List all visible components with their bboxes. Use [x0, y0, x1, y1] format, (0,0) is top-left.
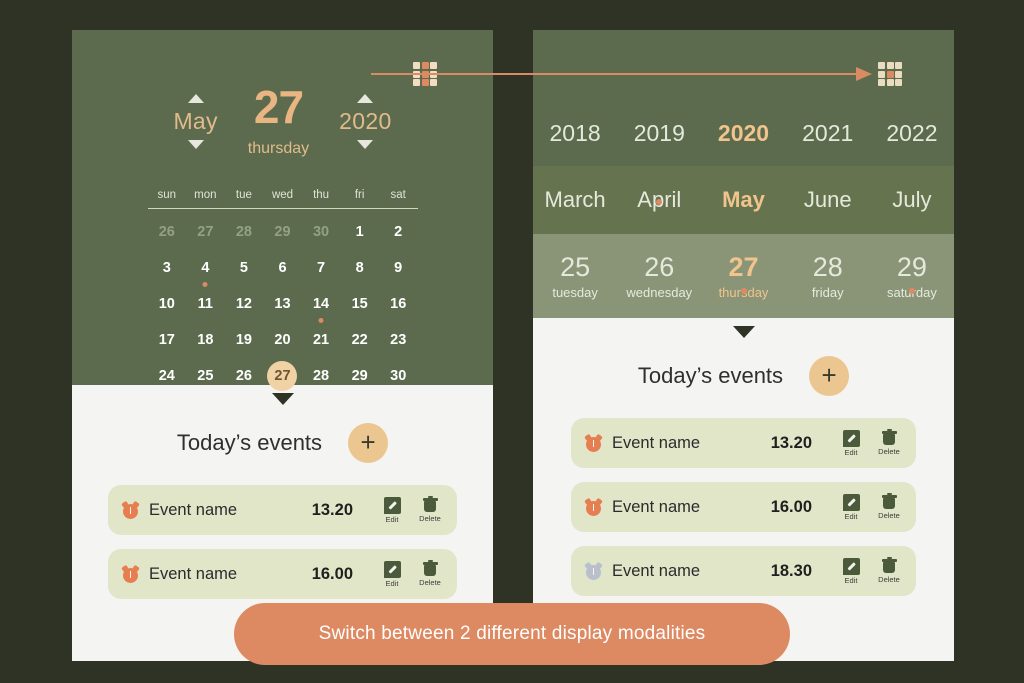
- day-number: 27: [274, 368, 290, 384]
- year-option[interactable]: 2019: [617, 120, 701, 147]
- edit-event-button[interactable]: Edit: [379, 497, 405, 524]
- calendar-day-cell[interactable]: 22: [340, 329, 379, 351]
- pencil-icon: [384, 497, 401, 514]
- caret-up-icon[interactable]: [357, 94, 373, 103]
- day-number: 20: [274, 332, 290, 348]
- calendar-day-cell[interactable]: 20: [263, 329, 302, 351]
- day-number: 7: [317, 260, 325, 276]
- calendar-day-cell[interactable]: 30: [302, 221, 341, 243]
- caption-text: Switch between 2 different display modal…: [319, 623, 706, 645]
- delete-event-button[interactable]: Delete: [417, 497, 443, 524]
- trash-icon: [882, 494, 897, 510]
- weekday-label: tuesday: [533, 285, 617, 300]
- trash-icon: [882, 430, 897, 446]
- event-actions: EditDelete: [379, 561, 443, 588]
- alarm-hand: [593, 504, 595, 511]
- year-option[interactable]: 2022: [870, 120, 954, 147]
- day-number: 25: [533, 253, 617, 281]
- selected-weekday: thursday: [248, 140, 309, 158]
- caret-down-icon: [733, 326, 755, 338]
- edit-event-button[interactable]: Edit: [838, 430, 864, 457]
- delete-label: Delete: [878, 511, 900, 520]
- day-scroller[interactable]: 25tuesday26wednesday27thursday28friday29…: [533, 234, 954, 318]
- alarm-hand: [130, 571, 132, 578]
- event-actions: EditDelete: [838, 494, 902, 521]
- arrow-head: [856, 67, 872, 81]
- left-panel-header: May 27 thursday 2020 sunmontuewedthufris…: [72, 30, 493, 385]
- weekday-label: wednesday: [617, 285, 701, 300]
- events-list: Event name13.20EditDeleteEvent name16.00…: [533, 418, 954, 596]
- calendar-day-cell[interactable]: 3: [148, 257, 187, 279]
- day-number: 27: [197, 224, 213, 240]
- event-indicator-dot: [656, 199, 662, 205]
- event-row[interactable]: Event name13.20EditDelete: [108, 485, 457, 535]
- toggle-cell: [887, 79, 894, 86]
- calendar-day-cell[interactable]: 11: [186, 293, 225, 315]
- calendar-day-cell[interactable]: 6: [263, 257, 302, 279]
- day-number: 29: [870, 253, 954, 281]
- event-actions: EditDelete: [379, 497, 443, 524]
- weekday-label: tue: [225, 189, 264, 201]
- calendar-day-cell[interactable]: 10: [148, 293, 187, 315]
- calendar-day-cell[interactable]: 1: [340, 221, 379, 243]
- day-number: 26: [617, 253, 701, 281]
- calendar-day-cell[interactable]: 21: [302, 329, 341, 351]
- toggle-cell: [895, 79, 902, 86]
- weekday-label: thu: [302, 189, 341, 201]
- weekday-label: friday: [786, 285, 870, 300]
- caret-down-icon[interactable]: [188, 140, 204, 149]
- edit-label: Edit: [845, 576, 858, 585]
- day-number: 26: [236, 368, 252, 384]
- calendar-day-cell[interactable]: 12: [225, 293, 264, 315]
- toggle-cell: [878, 62, 885, 69]
- day-number: 30: [390, 368, 406, 384]
- calendar-day-cell[interactable]: 28: [225, 221, 264, 243]
- delete-event-button[interactable]: Delete: [417, 561, 443, 588]
- event-indicator-dot: [741, 288, 747, 294]
- calendar-day-cell[interactable]: 24: [148, 365, 187, 387]
- day-number: 28: [236, 224, 252, 240]
- edit-label: Edit: [845, 448, 858, 457]
- alarm-clock-icon: [122, 566, 139, 583]
- calendar-day-cell[interactable]: 2: [379, 221, 418, 243]
- event-time: 16.00: [771, 498, 812, 517]
- day-number: 9: [394, 260, 402, 276]
- grid-view-toggle-icon[interactable]: [878, 62, 902, 86]
- day-number: 1: [356, 224, 364, 240]
- month-scroller[interactable]: MarchAprilMayJuneJuly: [533, 166, 954, 234]
- calendar-day-cell[interactable]: 19: [225, 329, 264, 351]
- day-number: 11: [198, 296, 213, 312]
- trash-can: [883, 498, 895, 509]
- calendar-day-cell[interactable]: 27: [263, 365, 302, 387]
- toggle-cell: [887, 71, 894, 78]
- day-option[interactable]: 29saturday: [870, 253, 954, 300]
- calendar-day-cell[interactable]: 15: [340, 293, 379, 315]
- event-indicator-dot: [319, 318, 324, 323]
- right-arrow-icon: [371, 66, 872, 82]
- day-number: 12: [236, 296, 252, 312]
- add-event-button[interactable]: +: [809, 356, 849, 396]
- alarm-clock-icon: [585, 563, 602, 580]
- day-option[interactable]: 28friday: [786, 253, 870, 300]
- calendar-day-cell[interactable]: 13: [263, 293, 302, 315]
- selected-date-display: 27 thursday: [248, 84, 309, 158]
- edit-event-button[interactable]: Edit: [838, 494, 864, 521]
- event-indicator-dot: [203, 282, 208, 287]
- calendar-day-cell[interactable]: 28: [302, 365, 341, 387]
- day-number: 21: [313, 332, 329, 348]
- event-indicator-dot: [909, 288, 915, 294]
- event-time: 18.30: [771, 562, 812, 581]
- day-number: 28: [313, 368, 329, 384]
- arrow-shaft: [371, 73, 857, 75]
- toggle-cell: [895, 62, 902, 69]
- event-name: Event name: [149, 501, 302, 520]
- delete-label: Delete: [878, 575, 900, 584]
- day-option[interactable]: 27thursday: [701, 253, 785, 300]
- calendar-day-cell[interactable]: 30: [379, 365, 418, 387]
- toggle-cell: [878, 71, 885, 78]
- day-number: 6: [278, 260, 286, 276]
- calendar-day-cell[interactable]: 16: [379, 293, 418, 315]
- weekday-label: sun: [148, 189, 187, 201]
- event-name: Event name: [149, 565, 302, 584]
- calendar-day-cell[interactable]: 17: [148, 329, 187, 351]
- event-row[interactable]: Event name18.30EditDelete: [571, 546, 916, 596]
- month-day-grid[interactable]: 2627282930123456789101112131415161718192…: [148, 221, 418, 387]
- day-number: 18: [197, 332, 213, 348]
- event-actions: EditDelete: [838, 558, 902, 585]
- calendar-day-cell[interactable]: 26: [148, 221, 187, 243]
- day-number: 19: [236, 332, 252, 348]
- date-selector: May 27 thursday 2020: [72, 30, 493, 158]
- edit-label: Edit: [386, 515, 399, 524]
- day-number: 13: [274, 296, 290, 312]
- weekday-header-row: sunmontuewedthufrisat: [148, 189, 418, 209]
- alarm-clock-icon: [122, 502, 139, 519]
- calendar-day-cell[interactable]: 25: [186, 365, 225, 387]
- day-number: 14: [313, 296, 329, 312]
- delete-event-button[interactable]: Delete: [876, 494, 902, 521]
- month-option[interactable]: June: [786, 187, 870, 213]
- day-number: 25: [197, 368, 213, 384]
- month-value: May: [173, 108, 217, 135]
- weekday-label: fri: [340, 189, 379, 201]
- event-time: 13.20: [312, 501, 353, 520]
- calendar-day-cell[interactable]: 18: [186, 329, 225, 351]
- day-number: 15: [352, 296, 368, 312]
- event-row[interactable]: Event name13.20EditDelete: [571, 418, 916, 468]
- event-name: Event name: [612, 434, 761, 453]
- calendar-day-cell[interactable]: 9: [379, 257, 418, 279]
- year-value: 2020: [339, 108, 391, 135]
- caption-banner: Switch between 2 different display modal…: [234, 603, 790, 665]
- pencil-icon: [843, 494, 860, 511]
- pencil-icon: [384, 561, 401, 578]
- calendar-day-cell[interactable]: 26: [225, 365, 264, 387]
- event-actions: EditDelete: [838, 430, 902, 457]
- caret-down-icon: [272, 393, 294, 405]
- year-stepper[interactable]: 2020: [339, 84, 391, 149]
- day-number: 2: [394, 224, 402, 240]
- events-list: Event name13.20EditDeleteEvent name16.00…: [72, 485, 493, 599]
- calendar-day-cell[interactable]: 23: [379, 329, 418, 351]
- day-number: 29: [274, 224, 290, 240]
- calendar-day-cell[interactable]: 7: [302, 257, 341, 279]
- weekday-label: sat: [379, 189, 418, 201]
- edit-label: Edit: [845, 512, 858, 521]
- calendar-panel-scroller-view: 20182019202020212022 MarchAprilMayJuneJu…: [533, 30, 954, 661]
- day-number: 29: [352, 368, 368, 384]
- event-row[interactable]: Event name16.00EditDelete: [108, 549, 457, 599]
- day-number: 10: [159, 296, 175, 312]
- toggle-cell: [878, 79, 885, 86]
- events-title: Today’s events: [177, 430, 322, 456]
- alarm-hand: [593, 568, 595, 575]
- caret-up-icon[interactable]: [188, 94, 204, 103]
- alarm-hand: [593, 440, 595, 447]
- year-scroller[interactable]: 20182019202020212022: [533, 100, 954, 166]
- calendar-day-cell[interactable]: 14: [302, 293, 341, 315]
- year-option[interactable]: 2018: [533, 120, 617, 147]
- calendar-day-cell[interactable]: 8: [340, 257, 379, 279]
- year-option[interactable]: 2021: [786, 120, 870, 147]
- event-name: Event name: [612, 562, 761, 581]
- delete-event-button[interactable]: Delete: [876, 558, 902, 585]
- calendar-panel-month-view: May 27 thursday 2020 sunmontuewedthufris…: [72, 30, 493, 661]
- alarm-clock-icon: [585, 435, 602, 452]
- delete-event-button[interactable]: Delete: [876, 430, 902, 457]
- day-number: 3: [163, 260, 171, 276]
- weekday-label: wed: [263, 189, 302, 201]
- month-option[interactable]: May: [701, 187, 785, 213]
- screenshot-stage: May 27 thursday 2020 sunmontuewedthufris…: [0, 0, 1024, 683]
- calendar-day-cell[interactable]: 5: [225, 257, 264, 279]
- trash-icon: [882, 558, 897, 574]
- trash-icon: [423, 561, 438, 577]
- calendar-day-cell[interactable]: 27: [186, 221, 225, 243]
- day-number: 30: [313, 224, 329, 240]
- day-number: 4: [201, 260, 209, 276]
- event-time: 16.00: [312, 565, 353, 584]
- selected-day-number: 27: [248, 84, 309, 130]
- month-stepper[interactable]: May: [173, 84, 217, 149]
- alarm-clock-icon: [585, 499, 602, 516]
- calendar-day-cell[interactable]: 29: [340, 365, 379, 387]
- trash-can: [424, 565, 436, 576]
- delete-label: Delete: [419, 578, 441, 587]
- month-option[interactable]: July: [870, 187, 954, 213]
- weekday-label: mon: [186, 189, 225, 201]
- add-event-button[interactable]: +: [348, 423, 388, 463]
- day-number: 17: [159, 332, 175, 348]
- day-number: 28: [786, 253, 870, 281]
- delete-label: Delete: [878, 447, 900, 456]
- year-option[interactable]: 2020: [701, 120, 785, 147]
- calendar-day-cell[interactable]: 4: [186, 257, 225, 279]
- day-number: 26: [159, 224, 175, 240]
- trash-can: [424, 501, 436, 512]
- toggle-cell: [895, 71, 902, 78]
- month-option[interactable]: April: [617, 187, 701, 213]
- day-number: 23: [390, 332, 406, 348]
- day-number: 16: [390, 296, 406, 312]
- event-time: 13.20: [771, 434, 812, 453]
- calendar-day-cell[interactable]: 29: [263, 221, 302, 243]
- caret-down-icon[interactable]: [357, 140, 373, 149]
- pencil-icon: [843, 430, 860, 447]
- day-number: 5: [240, 260, 248, 276]
- toggle-cell: [887, 62, 894, 69]
- pencil-icon: [843, 558, 860, 575]
- trash-can: [883, 434, 895, 445]
- alarm-hand: [130, 507, 132, 514]
- edit-event-button[interactable]: Edit: [379, 561, 405, 588]
- day-option[interactable]: 26wednesday: [617, 253, 701, 300]
- event-name: Event name: [612, 498, 761, 517]
- events-title: Today’s events: [638, 363, 783, 389]
- trash-icon: [423, 497, 438, 513]
- delete-label: Delete: [419, 514, 441, 523]
- edit-event-button[interactable]: Edit: [838, 558, 864, 585]
- edit-label: Edit: [386, 579, 399, 588]
- event-row[interactable]: Event name16.00EditDelete: [571, 482, 916, 532]
- day-number: 24: [159, 368, 175, 384]
- day-number: 8: [356, 260, 364, 276]
- trash-can: [883, 562, 895, 573]
- month-option[interactable]: March: [533, 187, 617, 213]
- day-number: 27: [701, 253, 785, 281]
- day-number: 22: [352, 332, 368, 348]
- day-option[interactable]: 25tuesday: [533, 253, 617, 300]
